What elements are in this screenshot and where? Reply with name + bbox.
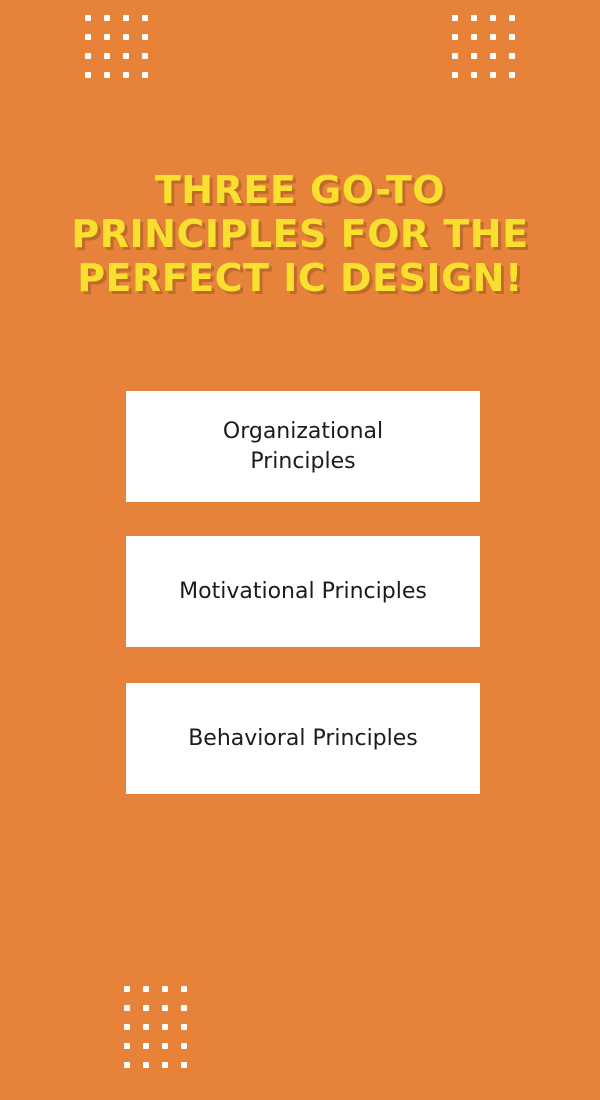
decorative-dot [490,53,496,59]
decorative-dot [490,34,496,40]
decorative-dot [452,53,458,59]
decorative-dot [509,15,515,21]
decorative-dot [162,1005,168,1011]
decorative-dot [181,1043,187,1049]
decorative-dot [143,986,149,992]
page-title-line-2: PRINCIPLES FOR THE [40,212,560,256]
decorative-dot [509,72,515,78]
decorative-dot [85,34,91,40]
decorative-dot [85,72,91,78]
decorative-dot [162,986,168,992]
decorative-dot [143,1005,149,1011]
decorative-dot [142,15,148,21]
decorative-dot [452,15,458,21]
poster-canvas: THREE GO-TO PRINCIPLES FOR THE PERFECT I… [0,0,600,1100]
decorative-dot [124,1043,130,1049]
decorative-dot [181,986,187,992]
decorative-dot [143,1043,149,1049]
decorative-dot [452,72,458,78]
principle-card-label: Motivational Principles [165,577,441,607]
principle-card-behavioral: Behavioral Principles [126,683,480,794]
page-title: THREE GO-TO PRINCIPLES FOR THE PERFECT I… [0,168,600,300]
decorative-dot-grid-top-left [85,15,148,78]
decorative-dot [162,1043,168,1049]
decorative-dot [509,53,515,59]
decorative-dot-grid-top-right [452,15,515,78]
decorative-dot [471,15,477,21]
decorative-dot [124,1024,130,1030]
decorative-dot [104,72,110,78]
decorative-dot [142,34,148,40]
decorative-dot [471,72,477,78]
decorative-dot [143,1062,149,1068]
decorative-dot [123,15,129,21]
decorative-dot [162,1024,168,1030]
principle-card-label: Organizational Principles [209,417,397,477]
decorative-dot [142,53,148,59]
decorative-dot [104,34,110,40]
decorative-dot [509,34,515,40]
decorative-dot [104,15,110,21]
decorative-dot [471,53,477,59]
decorative-dot [124,1062,130,1068]
decorative-dot [104,53,110,59]
decorative-dot [123,34,129,40]
page-title-line-1: THREE GO-TO [40,168,560,212]
decorative-dot [471,34,477,40]
decorative-dot [181,1062,187,1068]
decorative-dot-grid-bottom-left [124,986,187,1068]
decorative-dot [142,72,148,78]
decorative-dot [490,15,496,21]
page-title-line-3: PERFECT IC DESIGN! [40,256,560,300]
decorative-dot [490,72,496,78]
decorative-dot [124,1005,130,1011]
principle-card-motivational: Motivational Principles [126,536,480,647]
decorative-dot [123,53,129,59]
decorative-dot [123,72,129,78]
decorative-dot [124,986,130,992]
decorative-dot [143,1024,149,1030]
decorative-dot [162,1062,168,1068]
principle-card-organizational: Organizational Principles [126,391,480,502]
decorative-dot [85,53,91,59]
principle-card-label: Behavioral Principles [174,724,432,754]
decorative-dot [181,1024,187,1030]
decorative-dot [85,15,91,21]
decorative-dot [452,34,458,40]
decorative-dot [181,1005,187,1011]
